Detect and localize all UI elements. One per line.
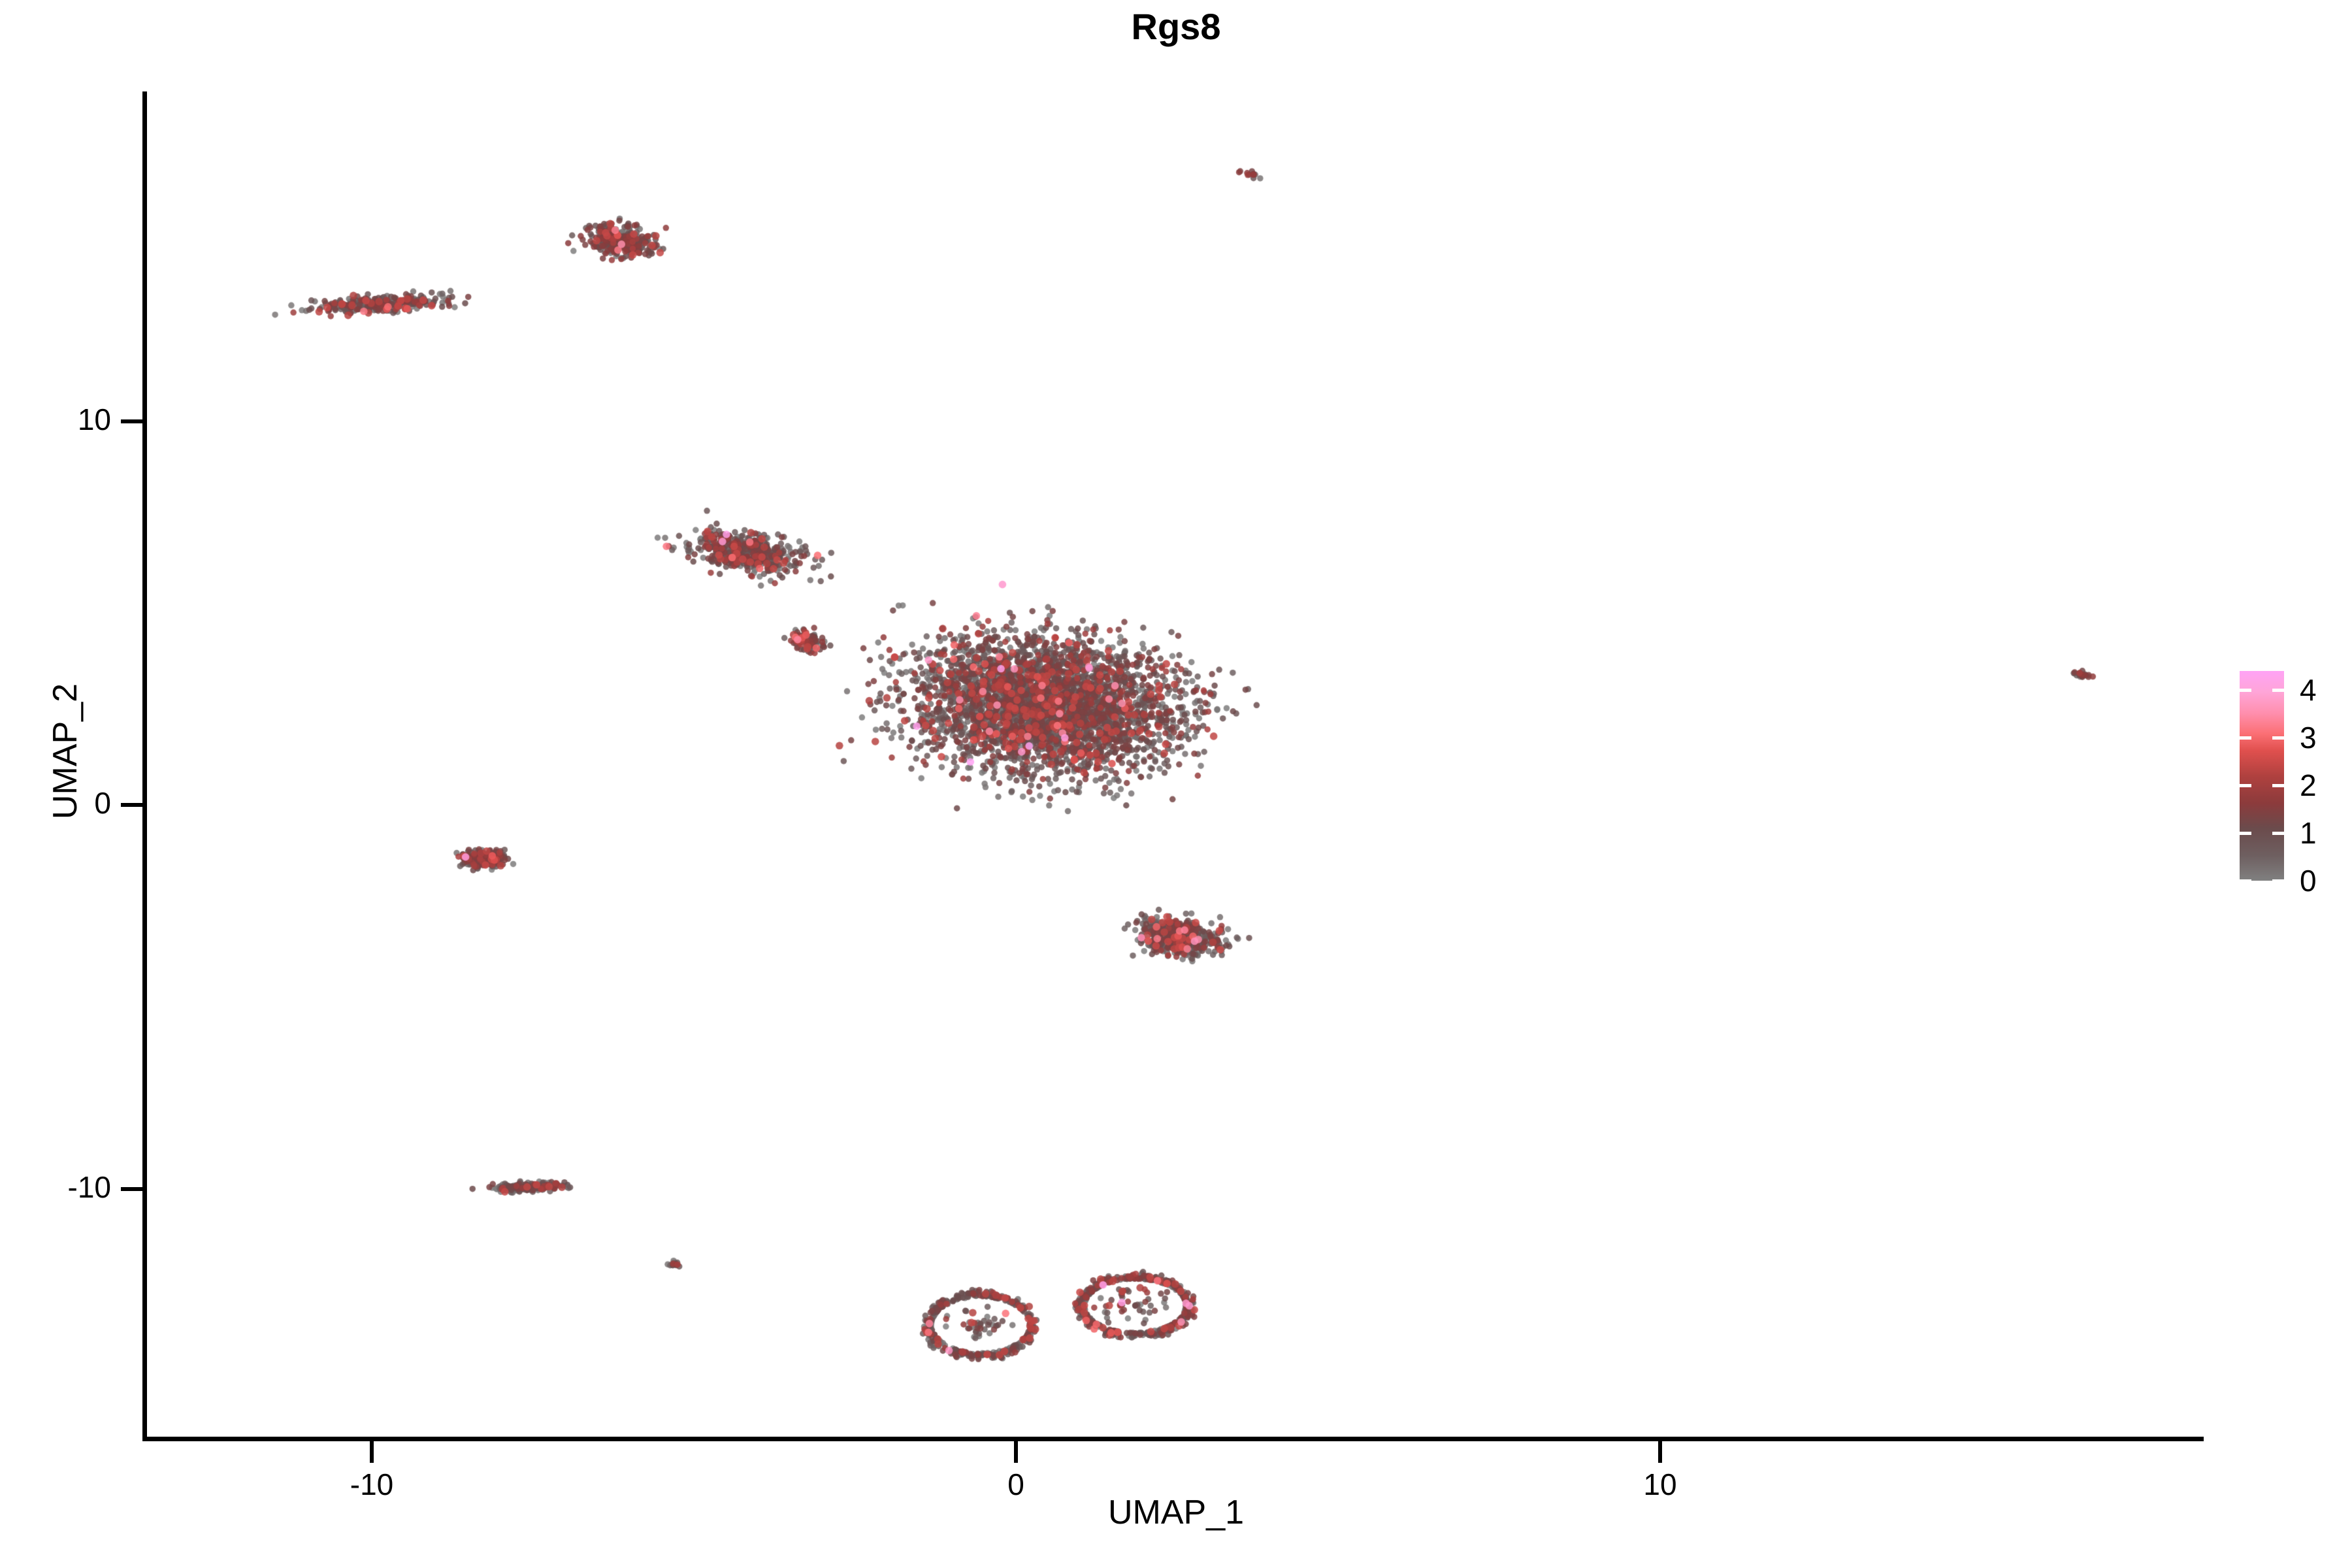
colorbar-gradient [2240,671,2284,881]
y-axis-line [142,91,147,1441]
colorbar-tick-label: 0 [2300,863,2317,898]
y-tick-label: 10 [78,402,111,437]
y-tick-mark [121,419,142,423]
colorbar-tick-mark [2272,784,2284,787]
colorbar-tick-mark [2240,736,2251,740]
colorbar-tick-label: 2 [2300,768,2317,803]
x-tick-mark [1658,1441,1662,1463]
colorbar-tick-label: 1 [2300,815,2317,851]
y-tick-label: 0 [94,785,111,821]
y-tick-label: -10 [68,1169,111,1205]
colorbar-tick-mark [2272,832,2284,835]
colorbar-tick-mark [2240,784,2251,787]
x-tick-mark [370,1441,374,1463]
y-axis-title: UMAP_2 [46,621,85,882]
x-axis-title: UMAP_1 [0,1493,2352,1532]
colorbar-tick-label: 4 [2300,672,2317,708]
colorbar-tick-mark [2272,879,2284,883]
x-tick-mark [1014,1441,1018,1463]
colorbar-tick-mark [2272,689,2284,692]
colorbar-tick-mark [2240,689,2251,692]
umap-feature-plot: Rgs8 100-10-10010 UMAP_1 UMAP_2 43210 [0,0,2352,1568]
y-tick-mark [121,803,142,807]
colorbar-tick-mark [2272,736,2284,740]
y-tick-mark [121,1187,142,1191]
scatter-plot-area [0,0,2352,1568]
colorbar-tick-label: 3 [2300,720,2317,755]
colorbar-tick-mark [2240,879,2251,883]
colorbar-legend: 43210 [2240,671,2284,881]
x-axis-line [142,1437,2204,1441]
colorbar-tick-mark [2240,832,2251,835]
